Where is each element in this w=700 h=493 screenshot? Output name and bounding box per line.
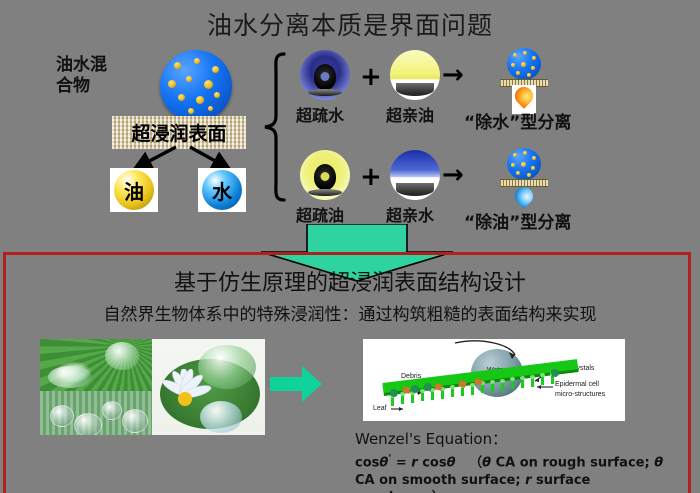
deoiling-separation-caption: “除油”型分离 bbox=[464, 208, 571, 233]
panel-subtitle: 自然界生物体系中的特殊浸润性：通过构筑粗糙的表面结构来实现 bbox=[0, 300, 700, 325]
mixture-label-line2: 合物 bbox=[56, 76, 152, 97]
green-right-arrow-icon bbox=[270, 366, 322, 402]
eq-theta-prime: θ bbox=[379, 455, 388, 470]
water-sphere-label: 水 bbox=[202, 170, 242, 210]
panel-title: 基于仿生原理的超浸润表面结构设计 bbox=[0, 265, 700, 297]
slide-canvas: 油水分离本质是界面问题 油水混 合物 超浸润表面 油 水 bbox=[0, 0, 700, 493]
superhydrophilic-icon bbox=[390, 150, 440, 200]
eq-note-part2: CA on smooth surface; bbox=[355, 473, 525, 488]
equation-title: Wenzel's Equation： bbox=[355, 428, 507, 449]
superoleophobic-caption: 超疏油 bbox=[296, 202, 344, 226]
superhydrophilic-caption: 超亲水 bbox=[386, 202, 434, 226]
photo-lotus-leaf-droplet bbox=[40, 339, 152, 391]
deoiling-product-icon bbox=[500, 148, 548, 214]
arrow-right-row1: → bbox=[442, 62, 464, 88]
superhydrophobic-icon bbox=[300, 50, 350, 100]
arrow-right-row2: → bbox=[442, 162, 464, 188]
mixture-label-line1: 油水混 bbox=[56, 55, 152, 76]
superoleophilic-caption: 超亲油 bbox=[386, 102, 434, 126]
oil-water-mixture-icon bbox=[160, 50, 232, 122]
eq-cos1: cos bbox=[355, 455, 379, 470]
eq-note-part1: CA on rough surface; bbox=[491, 455, 654, 470]
mixture-label: 油水混 合物 bbox=[56, 55, 152, 98]
superwetting-surface-label: 超浸润表面 bbox=[112, 119, 246, 146]
oil-sphere-label: 油 bbox=[114, 170, 154, 210]
eq-note-open: （ bbox=[469, 455, 482, 470]
plus-operator-row1: + bbox=[360, 62, 382, 92]
equation-body: cosθ' = r cosθ （θ CA on rough surface; θ… bbox=[355, 452, 675, 493]
eq-equals: = bbox=[391, 455, 411, 470]
photo-microstructured-surface bbox=[40, 391, 152, 435]
eq-note-theta-prime: θ bbox=[482, 455, 491, 470]
superoleophilic-icon bbox=[390, 50, 440, 100]
lotus-effect-schematic: Water Debris Leaf Wax crystals Epidermal… bbox=[363, 339, 625, 421]
superhydrophobic-caption: 超疏水 bbox=[296, 102, 344, 126]
plus-operator-row2: + bbox=[360, 162, 382, 192]
eq-cos2: cos bbox=[418, 455, 447, 470]
photo-lotus-pad-lily bbox=[152, 339, 265, 435]
curly-brace-icon bbox=[262, 52, 288, 202]
lotus-photo-collage bbox=[40, 339, 265, 435]
eq-theta: θ bbox=[447, 455, 456, 470]
water-lily-icon bbox=[154, 369, 216, 427]
water-result-box: 水 bbox=[198, 168, 246, 212]
eq-note-theta: θ bbox=[654, 455, 663, 470]
superoleophobic-icon bbox=[300, 150, 350, 200]
oil-result-box: 油 bbox=[110, 168, 158, 212]
page-title: 油水分离本质是界面问题 bbox=[0, 6, 700, 42]
dewatering-product-icon bbox=[500, 48, 548, 114]
dewatering-separation-caption: “除水”型分离 bbox=[464, 108, 571, 133]
